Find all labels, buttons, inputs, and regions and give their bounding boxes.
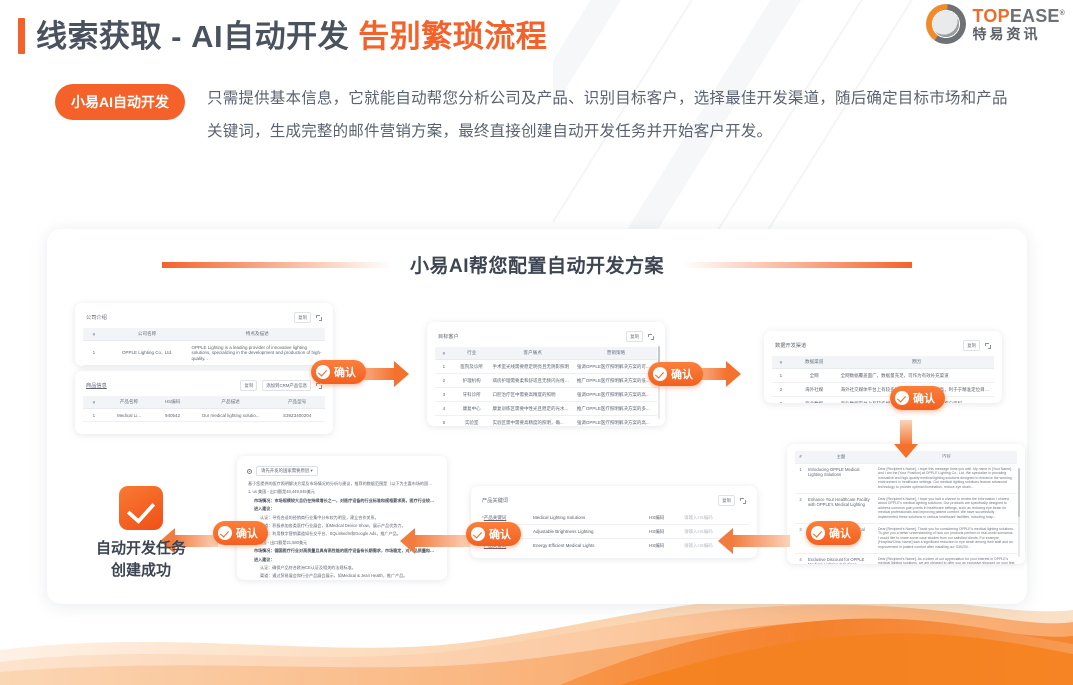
confirm-button[interactable]: 确认 bbox=[648, 362, 703, 386]
cell-industry: 护理机构 bbox=[453, 374, 491, 388]
col-index: # bbox=[435, 347, 453, 360]
cell-pain-point: 康复训练区需要中性光且稳定的光水... bbox=[490, 402, 574, 416]
plan-line: 市场情况：市场规模较大且仍在持续增长之一，对医疗设备的行业标准和规格要求高，医疗… bbox=[248, 498, 436, 504]
cell-subject: Introducing OPPLE Medical Lighting Solut… bbox=[808, 467, 874, 490]
cell-pain-point: 病房护理需要柔和舒适且无频闪光线，但标... bbox=[490, 374, 574, 388]
cell-hs-code: 940542 bbox=[153, 409, 192, 422]
plan-line: 认证：寻找合适的经销商行业集中分布较为明显，建立合作关系。 bbox=[248, 515, 436, 521]
title-accent: 告别繁琐流程 bbox=[358, 19, 547, 54]
copy-button[interactable]: 复制 bbox=[294, 312, 311, 323]
cell-channel: 全网 bbox=[790, 369, 839, 383]
table-row: 1医院及诊所手术室光线需要稳定明亮且无阴影照明强调OPPLE医疗照明解决方案的可… bbox=[435, 360, 657, 374]
cell-index: 2 bbox=[772, 383, 790, 397]
page-header: 线索获取 - AI自动开发 告别繁琐流程 bbox=[0, 0, 1073, 54]
title-sub: AI自动开发 bbox=[191, 19, 349, 54]
cell-index: 4 bbox=[797, 557, 804, 565]
cell-body: Dear [Recipient's Name], I hope this mes… bbox=[878, 467, 1015, 490]
cell-product-model: S39Z3400204 bbox=[269, 409, 325, 422]
section-title-text: 小易AI帮您配置自动开发方案 bbox=[410, 251, 664, 278]
hs-label: HS编码 bbox=[649, 543, 679, 549]
confirm-button[interactable]: 确认 bbox=[213, 521, 268, 545]
confirm-label: 确认 bbox=[671, 366, 693, 382]
channel-table: # 数据渠道 原因 1全网全网数据覆盖面广，数据量充足，可作为有效补充渠道 2海… bbox=[772, 356, 994, 403]
topease-ring-icon bbox=[926, 4, 966, 44]
country-selector[interactable]: 请先开发的国家需要原因 ▾ bbox=[256, 466, 318, 476]
cell-channel: 商业数据 bbox=[790, 397, 839, 404]
keyword-row[interactable]: *产品关键词 Energy Efficient Medical Lights H… bbox=[479, 539, 749, 552]
cell-subject: Enhance Your Healthcare Facility with OP… bbox=[808, 497, 874, 520]
cell-index: 2 bbox=[435, 374, 453, 388]
cell-subject: Exclusive Discount for OPPLE Medical Lig… bbox=[808, 557, 874, 565]
cell-company-desc: OPPLE Lighting is a leading provider of … bbox=[189, 341, 325, 366]
copy-button[interactable]: 复制 bbox=[963, 340, 980, 351]
table-row: 2海外社媒海外社交媒体平台上有较多相关客户，数据质量较高，利于于精准定位目标客户 bbox=[772, 383, 994, 397]
confirm-button[interactable]: 确认 bbox=[806, 521, 861, 545]
add-to-crm-button[interactable]: 添加到CRM产品信息 bbox=[262, 380, 311, 391]
title-accent-bar bbox=[18, 18, 25, 54]
hs-input[interactable]: 请输入HS编码 bbox=[684, 515, 746, 521]
plan-line: 渠道：通过贸易展会和行业产品展会展示，如Medical & Jean Healt… bbox=[248, 573, 436, 579]
cell-pain-point: 实验区需中需要高精度的照明，确... bbox=[490, 416, 574, 427]
col-pain-point: 客户痛点 bbox=[490, 347, 574, 360]
copy-button[interactable]: 复制 bbox=[718, 495, 735, 506]
plan-line: 进入建议： bbox=[248, 557, 436, 563]
col-index: # bbox=[83, 396, 105, 409]
cell-strategy: 推广OPPLE医疗照明解决方案的低... bbox=[575, 374, 657, 388]
expand-icon[interactable] bbox=[985, 343, 991, 349]
col-strategy: 营销策略 bbox=[575, 347, 657, 360]
cell-index: 1 bbox=[772, 369, 790, 383]
panel-company-info[interactable]: 公司介绍 复制 # 公司名称 特点及描述 1 OPPLE Lighting Co… bbox=[75, 303, 333, 366]
cell-strategy: 强调OPPLE医疗照明解决方案的可... bbox=[575, 360, 657, 374]
cell-product-desc: Our medical lighting solutio... bbox=[192, 409, 269, 422]
page-title: 线索获取 - AI自动开发 告别繁琐流程 bbox=[18, 18, 1073, 54]
expand-icon[interactable] bbox=[316, 315, 322, 321]
cell-index: 2 bbox=[797, 497, 804, 520]
country-selector-label: 请先开发的国家需要原因 ▾ bbox=[261, 468, 313, 474]
col-index: # bbox=[83, 328, 105, 341]
panel-product-info[interactable]: 商品信息 复制 添加到CRM产品信息 # 产品名称 HS编码 产品描述 产品型号… bbox=[75, 371, 333, 434]
col-channel: 数据渠道 bbox=[790, 356, 839, 369]
keyword-row[interactable]: *产品关键词 Medical Lighting Solutions HS编码 请… bbox=[479, 511, 749, 525]
col-company-desc: 特点及描述 bbox=[189, 328, 325, 341]
title-main: 线索获取 bbox=[36, 19, 162, 54]
panel-email-templates[interactable]: # 主题 内容 1 Introducing OPPLE Medical Ligh… bbox=[787, 444, 1025, 564]
cell-body: Dear [Recipient's Name], I hope you had … bbox=[878, 497, 1015, 520]
product-table: # 产品名称 HS编码 产品描述 产品型号 1 Medical Li... 94… bbox=[83, 396, 325, 422]
cell-pain-point: 口腔治疗区中需要高精度的照明 bbox=[490, 388, 574, 402]
col-hs-code: HS编码 bbox=[153, 396, 192, 409]
cell-body: Dear [Recipient's Name], As a token of o… bbox=[878, 557, 1015, 565]
cell-pain-point: 手术室光线需要稳定明亮且无阴影照明 bbox=[490, 360, 574, 374]
panel-target-customers[interactable]: 目标客户 复制 # 行业 客户痛点 营销策略 1医院及诊所手术室光线需要稳定明亮… bbox=[427, 322, 665, 426]
email-row[interactable]: 4 Exclusive Discount for OPPLE Medical L… bbox=[795, 554, 1017, 565]
table-row: 5实验室实验区需中需要高精度的照明，确...强调OPPLE医疗照明解决方案的高.… bbox=[435, 416, 657, 427]
cell-company-name: OPPLE Lighting Co., Ltd. bbox=[105, 341, 190, 366]
section-line-left bbox=[162, 262, 392, 268]
plan-line: 进入建议： bbox=[248, 506, 436, 512]
check-success-icon bbox=[119, 486, 163, 530]
title-dash: - bbox=[171, 19, 182, 54]
col-company-name: 公司名称 bbox=[105, 328, 190, 341]
table-row: 3牙科诊所口腔治疗区中需要高精度的照明强调OPPLE医疗照明解决方案的高... bbox=[435, 388, 657, 402]
plan-line: 1. us 美国 - 出口额是48,449,045美元 bbox=[248, 489, 436, 495]
cell-index: 1 bbox=[797, 467, 804, 490]
logo-cn: 特易资讯 bbox=[973, 27, 1065, 41]
table-row: 1 OPPLE Lighting Co., Ltd. OPPLE Lightin… bbox=[83, 341, 325, 366]
company-table: # 公司名称 特点及描述 1 OPPLE Lighting Co., Ltd. … bbox=[83, 328, 325, 366]
copy-button[interactable]: 复制 bbox=[626, 331, 643, 342]
panel-target-title: 目标客户 bbox=[438, 333, 459, 340]
cell-industry: 康复中心 bbox=[453, 402, 491, 416]
cell-index: 1 bbox=[83, 341, 105, 366]
check-circle-icon bbox=[811, 526, 825, 540]
check-circle-icon bbox=[218, 526, 232, 540]
expand-icon[interactable] bbox=[740, 498, 746, 504]
scrollbar[interactable] bbox=[1018, 468, 1020, 557]
cell-product-name: Medical Li... bbox=[105, 409, 153, 422]
panel-channel-title: 数据开发渠道 bbox=[775, 342, 806, 349]
cell-reason: 全网数据覆盖面广，数据量充足，可作为有效补充渠道 bbox=[839, 369, 994, 383]
check-circle-icon bbox=[471, 527, 485, 541]
table-row: 2护理机构病房护理需要柔和舒适且无频闪光线，但标...推广OPPLE医疗照明解决… bbox=[435, 374, 657, 388]
cell-industry: 实验室 bbox=[453, 416, 491, 427]
confirm-label: 确认 bbox=[236, 525, 258, 541]
gear-icon bbox=[247, 469, 252, 474]
email-row[interactable]: 2 Enhance Your Healthcare Facility with … bbox=[795, 494, 1017, 524]
table-row: 1全网全网数据覆盖面广，数据量充足，可作为有效补充渠道 bbox=[772, 369, 994, 383]
panel-product-keywords[interactable]: 产品关键词 复制 *产品关键词 Medical Lighting Solutio… bbox=[471, 486, 757, 558]
panel-company-title: 公司介绍 bbox=[86, 314, 107, 321]
check-circle-icon bbox=[653, 367, 667, 381]
brand-logo: TOPEASE® 特易资讯 bbox=[926, 4, 1065, 44]
check-circle-icon bbox=[895, 391, 909, 405]
success-line-2: 创建成功 bbox=[86, 560, 196, 582]
cell-industry: 医院及诊所 bbox=[453, 360, 491, 374]
cell-channel: 海外社媒 bbox=[790, 383, 839, 397]
expand-icon[interactable] bbox=[648, 334, 654, 340]
col-product-model: 产品型号 bbox=[269, 396, 325, 409]
cell-index: 4 bbox=[435, 402, 453, 416]
intro-badge: 小易AI自动开发 bbox=[55, 84, 185, 120]
hs-label: HS编码 bbox=[649, 515, 679, 521]
cell-index: 3 bbox=[435, 388, 453, 402]
success-line-1: 自动开发任务 bbox=[86, 538, 196, 560]
arrow-left-icon bbox=[400, 528, 470, 554]
intro-paragraph: 只需提供基本信息，它就能自动帮您分析公司及产品、识别目标客户，选择最佳开发渠道，… bbox=[207, 82, 1022, 148]
logo-en-ease: EASE bbox=[1010, 6, 1060, 26]
cell-strategy: 推广OPPLE医疗照明解决方案的多... bbox=[575, 402, 657, 416]
keyword-input[interactable]: Adjustable Brightness Lighting bbox=[533, 529, 644, 534]
target-table: # 行业 客户痛点 营销策略 1医院及诊所手术室光线需要稳定明亮且无阴影照明强调… bbox=[435, 347, 657, 426]
confirm-button[interactable]: 确认 bbox=[890, 386, 945, 410]
confirm-label: 确认 bbox=[334, 364, 356, 380]
table-row: 3商业数据商业数据平台上有较多相关企业信息，可提供详细的客户资料 bbox=[772, 397, 994, 404]
arrow-down-icon bbox=[893, 420, 919, 458]
confirm-label: 确认 bbox=[829, 525, 851, 541]
confirm-button[interactable]: 确认 bbox=[311, 360, 366, 384]
cell-index: 3 bbox=[797, 527, 804, 550]
cell-body: Dear [Recipient's Name], Thank you for c… bbox=[878, 527, 1015, 550]
panel-product-title: 商品信息 bbox=[86, 382, 107, 389]
keyword-input[interactable]: Medical Lighting Solutions bbox=[533, 515, 644, 520]
logo-registered: ® bbox=[1060, 10, 1065, 17]
keyword-label: 产品关键词 bbox=[484, 515, 507, 520]
cell-index: 1 bbox=[435, 360, 453, 374]
section-line-right bbox=[682, 262, 912, 268]
check-circle-icon bbox=[316, 365, 330, 379]
cell-index: 1 bbox=[83, 409, 105, 422]
plan-line: 认证：确保产品符合欧洲CE认证及相关的法规标准。 bbox=[248, 565, 436, 571]
col-reason: 原因 bbox=[839, 356, 994, 369]
panel-data-channel[interactable]: 数据开发渠道 复制 # 数据渠道 原因 1全网全网数据覆盖面广，数据量充足，可作… bbox=[764, 331, 1002, 403]
success-block: 自动开发任务 创建成功 bbox=[86, 486, 196, 582]
table-row: 4康复中心康复训练区需要中性光且稳定的光水...推广OPPLE医疗照明解决方案的… bbox=[435, 402, 657, 416]
logo-en-top: TOP bbox=[973, 6, 1010, 26]
cell-strategy: 强调OPPLE医疗照明解决方案的高... bbox=[575, 416, 657, 427]
cell-index: 3 bbox=[772, 397, 790, 404]
col-product-desc: 产品描述 bbox=[192, 396, 269, 409]
col-index: # bbox=[797, 454, 804, 460]
confirm-label: 确认 bbox=[489, 526, 511, 542]
intro-row: 小易AI自动开发 只需提供基本信息，它就能自动帮您分析公司及产品、识别目标客户，… bbox=[55, 82, 1073, 148]
panel-keyword-title: 产品关键词 bbox=[482, 497, 508, 504]
col-industry: 行业 bbox=[453, 347, 491, 360]
email-row[interactable]: 1 Introducing OPPLE Medical Lighting Sol… bbox=[795, 464, 1017, 494]
cell-index: 5 bbox=[435, 416, 453, 427]
hs-label: HS编码 bbox=[649, 529, 679, 535]
arrow-left-icon bbox=[718, 528, 790, 554]
table-row: 1 Medical Li... 940542 Our medical light… bbox=[83, 409, 325, 422]
panel-market-plan[interactable]: 请先开发的国家需要原因 ▾ 基于您提供的医疗照明解决方案及市场情况的分析与建议，… bbox=[237, 456, 447, 580]
confirm-label: 确认 bbox=[913, 390, 935, 406]
cell-industry: 牙科诊所 bbox=[453, 388, 491, 402]
confirm-button[interactable]: 确认 bbox=[466, 522, 521, 546]
section-title: 小易AI帮您配置自动开发方案 bbox=[47, 229, 1027, 278]
keyword-input[interactable]: Energy Efficient Medical Lights bbox=[533, 543, 644, 548]
cell-strategy: 强调OPPLE医疗照明解决方案的高... bbox=[575, 388, 657, 402]
plan-line: 基于您提供的医疗照明解决方案及市场情况的分析与建议，推荐的数据范围是（以下为主要… bbox=[248, 481, 436, 487]
col-index: # bbox=[772, 356, 790, 369]
col-subject: 主题 bbox=[808, 454, 874, 460]
col-product-name: 产品名称 bbox=[105, 396, 153, 409]
copy-button[interactable]: 复制 bbox=[240, 380, 257, 391]
logo-text: TOPEASE® 特易资讯 bbox=[973, 7, 1065, 41]
